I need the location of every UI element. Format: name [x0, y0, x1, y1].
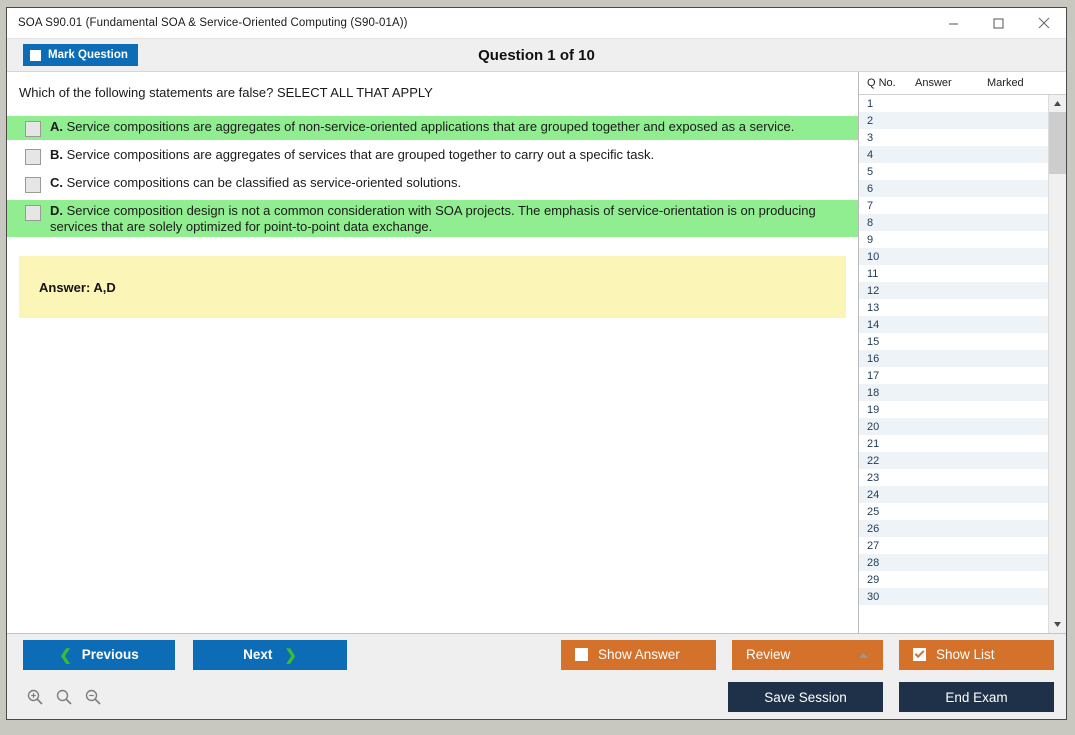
question-list-row[interactable]: 15: [859, 333, 1048, 350]
answer-reveal-box: Answer: A,D: [19, 256, 846, 318]
option-body: Service compositions can be classified a…: [67, 175, 462, 190]
row-qno: 3: [859, 132, 907, 144]
question-list-row[interactable]: 13: [859, 299, 1048, 316]
row-qno: 11: [859, 268, 907, 280]
row-qno: 16: [859, 353, 907, 365]
mark-question-button[interactable]: Mark Question: [23, 44, 138, 66]
row-qno: 28: [859, 557, 907, 569]
question-list-row[interactable]: 19: [859, 401, 1048, 418]
question-list-row[interactable]: 2: [859, 112, 1048, 129]
question-list-row[interactable]: 25: [859, 503, 1048, 520]
end-exam-label: End Exam: [945, 690, 1007, 705]
question-list-row[interactable]: 9: [859, 231, 1048, 248]
review-dropdown-button[interactable]: Review: [732, 640, 883, 670]
chevron-up-icon: [858, 647, 869, 662]
row-qno: 26: [859, 523, 907, 535]
question-list-row[interactable]: 23: [859, 469, 1048, 486]
row-qno: 30: [859, 591, 907, 603]
row-qno: 6: [859, 183, 907, 195]
question-list-row[interactable]: 1: [859, 95, 1048, 112]
row-qno: 10: [859, 251, 907, 263]
save-session-label: Save Session: [764, 690, 847, 705]
question-list-row[interactable]: 22: [859, 452, 1048, 469]
previous-button[interactable]: ❮ Previous: [23, 640, 175, 670]
row-qno: 5: [859, 166, 907, 178]
option-body: Service composition design is not a comm…: [50, 203, 816, 234]
row-qno: 27: [859, 540, 907, 552]
window-title: SOA S90.01 (Fundamental SOA & Service-Or…: [7, 17, 408, 29]
row-qno: 25: [859, 506, 907, 518]
answer-option[interactable]: B. Service compositions are aggregates o…: [7, 144, 858, 168]
question-list-row[interactable]: 14: [859, 316, 1048, 333]
question-list-row[interactable]: 26: [859, 520, 1048, 537]
close-button[interactable]: [1021, 9, 1066, 38]
answer-option[interactable]: A. Service compositions are aggregates o…: [7, 116, 858, 140]
option-letter: B.: [50, 147, 63, 162]
title-bar: SOA S90.01 (Fundamental SOA & Service-Or…: [7, 8, 1066, 39]
end-exam-button[interactable]: End Exam: [899, 682, 1054, 712]
question-list-row[interactable]: 29: [859, 571, 1048, 588]
show-answer-checkbox-icon[interactable]: [575, 648, 588, 661]
previous-button-label: Previous: [82, 647, 139, 662]
show-list-checkbox-icon[interactable]: [913, 648, 926, 661]
option-letter: C.: [50, 175, 63, 190]
option-text: C. Service compositions can be classifie…: [50, 175, 461, 191]
option-checkbox-icon[interactable]: [25, 121, 41, 137]
option-body: Service compositions are aggregates of s…: [67, 147, 654, 162]
question-list-scroll-area: 1234567891011121314151617181920212223242…: [859, 95, 1066, 633]
row-qno: 29: [859, 574, 907, 586]
row-qno: 14: [859, 319, 907, 331]
row-qno: 1: [859, 98, 907, 110]
row-qno: 15: [859, 336, 907, 348]
question-list-row[interactable]: 17: [859, 367, 1048, 384]
column-header-marked: Marked: [987, 77, 1066, 89]
question-list-row[interactable]: 5: [859, 163, 1048, 180]
answer-option[interactable]: C. Service compositions can be classifie…: [7, 172, 858, 196]
question-list-row[interactable]: 21: [859, 435, 1048, 452]
question-list-row[interactable]: 4: [859, 146, 1048, 163]
row-qno: 22: [859, 455, 907, 467]
option-text: B. Service compositions are aggregates o…: [50, 147, 654, 163]
zoom-out-icon[interactable]: [81, 685, 105, 709]
footer-row-actions: Save Session End Exam: [7, 675, 1066, 719]
option-letter: A.: [50, 119, 63, 134]
zoom-reset-icon[interactable]: [52, 685, 76, 709]
question-list-row[interactable]: 18: [859, 384, 1048, 401]
option-checkbox-icon[interactable]: [25, 149, 41, 165]
zoom-in-icon[interactable]: [23, 685, 47, 709]
question-list-row[interactable]: 6: [859, 180, 1048, 197]
question-prompt: Which of the following statements are fa…: [7, 72, 858, 100]
footer-toolbar: ❮ Previous Next ❯ Show Answer Review: [7, 633, 1066, 719]
maximize-button[interactable]: [976, 9, 1021, 38]
mark-question-checkbox-icon[interactable]: [30, 50, 41, 61]
answer-options-list: A. Service compositions are aggregates o…: [7, 116, 858, 237]
option-text: A. Service compositions are aggregates o…: [50, 119, 794, 135]
question-list-row[interactable]: 12: [859, 282, 1048, 299]
zoom-controls: [23, 685, 105, 709]
question-list-row[interactable]: 10: [859, 248, 1048, 265]
question-list-row[interactable]: 3: [859, 129, 1048, 146]
review-label: Review: [746, 647, 790, 662]
column-header-qno: Q No.: [859, 77, 915, 89]
exam-window: SOA S90.01 (Fundamental SOA & Service-Or…: [6, 7, 1067, 720]
minimize-button[interactable]: [931, 9, 976, 38]
question-counter-title: Question 1 of 10: [7, 47, 1066, 64]
question-list-row[interactable]: 7: [859, 197, 1048, 214]
answer-text: Answer: A,D: [19, 280, 116, 295]
footer-row-navigation: ❮ Previous Next ❯ Show Answer Review: [7, 634, 1066, 675]
show-list-button[interactable]: Show List: [899, 640, 1054, 670]
next-button[interactable]: Next ❯: [193, 640, 347, 670]
show-answer-button[interactable]: Show Answer: [561, 640, 716, 670]
next-button-label: Next: [243, 647, 272, 662]
column-header-answer: Answer: [915, 77, 987, 89]
row-qno: 17: [859, 370, 907, 382]
question-list-rows: 1234567891011121314151617181920212223242…: [859, 95, 1048, 633]
row-qno: 7: [859, 200, 907, 212]
row-qno: 13: [859, 302, 907, 314]
question-list-row[interactable]: 27: [859, 537, 1048, 554]
answer-option[interactable]: D. Service composition design is not a c…: [7, 200, 858, 237]
option-body: Service compositions are aggregates of n…: [67, 119, 795, 134]
mark-question-label: Mark Question: [48, 49, 128, 61]
row-qno: 18: [859, 387, 907, 399]
question-list-panel: Q No. Answer Marked 12345678910111213141…: [858, 72, 1066, 633]
save-session-button[interactable]: Save Session: [728, 682, 883, 712]
chevron-right-icon: ❯: [284, 646, 297, 664]
row-qno: 12: [859, 285, 907, 297]
question-list-row[interactable]: 30: [859, 588, 1048, 605]
scrollbar-track[interactable]: [1049, 112, 1066, 616]
question-list-row[interactable]: 28: [859, 554, 1048, 571]
screenshot-root: SOA S90.01 (Fundamental SOA & Service-Or…: [0, 0, 1075, 735]
question-list-scrollbar[interactable]: [1048, 95, 1066, 633]
question-list-header: Q No. Answer Marked: [859, 72, 1066, 95]
body-area: Which of the following statements are fa…: [7, 71, 1066, 633]
row-qno: 19: [859, 404, 907, 416]
option-checkbox-icon[interactable]: [25, 177, 41, 193]
chevron-left-icon: ❮: [59, 646, 72, 664]
question-list-row[interactable]: 8: [859, 214, 1048, 231]
option-checkbox-icon[interactable]: [25, 205, 41, 221]
question-list-row[interactable]: 24: [859, 486, 1048, 503]
row-qno: 20: [859, 421, 907, 433]
option-text: D. Service composition design is not a c…: [50, 203, 848, 234]
question-list-row[interactable]: 11: [859, 265, 1048, 282]
question-pane: Which of the following statements are fa…: [7, 72, 858, 633]
question-list-row[interactable]: 20: [859, 418, 1048, 435]
show-list-label: Show List: [936, 647, 995, 662]
scrollbar-thumb[interactable]: [1049, 112, 1066, 174]
scroll-down-button[interactable]: [1049, 616, 1066, 633]
question-list-row[interactable]: 16: [859, 350, 1048, 367]
row-qno: 2: [859, 115, 907, 127]
show-answer-label: Show Answer: [598, 647, 680, 662]
scroll-up-button[interactable]: [1049, 95, 1066, 112]
row-qno: 24: [859, 489, 907, 501]
row-qno: 4: [859, 149, 907, 161]
question-header-bar: Mark Question Question 1 of 10: [7, 39, 1066, 71]
row-qno: 9: [859, 234, 907, 246]
option-letter: D.: [50, 203, 63, 218]
row-qno: 23: [859, 472, 907, 484]
row-qno: 21: [859, 438, 907, 450]
row-qno: 8: [859, 217, 907, 229]
